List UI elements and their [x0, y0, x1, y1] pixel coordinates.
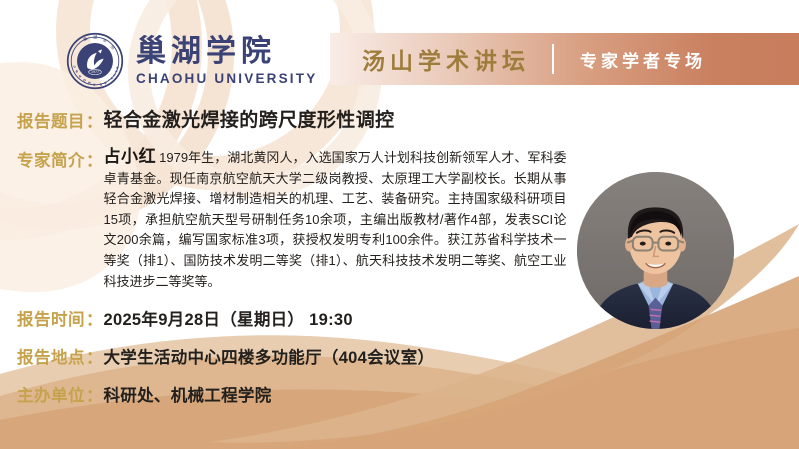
speaker-bio-colon: ：: [85, 147, 104, 171]
report-time-label: 报告时间: [17, 306, 85, 330]
report-title-value: 轻合金激光焊接的跨尺度形性调控: [104, 108, 395, 134]
report-place-value: 大学生活动中心四楼多功能厅（404会议室）: [104, 344, 435, 368]
svg-text:U: U: [99, 82, 103, 86]
poster-content: 报告题目 ： 轻合金激光焊接的跨尺度形性调控 专家简介 ： 占小红1979年生，…: [0, 104, 799, 406]
speaker-bio-row: 专家简介 ： 占小红1979年生，湖北黄冈人，入选国家万人计划科技创新领军人才、…: [0, 147, 799, 292]
banner-divider: [552, 44, 554, 74]
svg-text:湖: 湖: [93, 33, 97, 39]
lecture-poster: 1977 巢 湖 学 院 C H A O H U U: [0, 0, 799, 449]
host-organization-colon: ：: [85, 382, 104, 406]
speaker-name: 占小红: [104, 147, 157, 166]
svg-text:学: 学: [102, 37, 108, 44]
university-name: 巢湖学院 CHAOHU UNIVERSITY: [136, 37, 317, 86]
forum-banner-title: 汤山学术讲坛: [362, 42, 530, 76]
university-name-cn: 巢湖学院: [136, 37, 317, 67]
svg-text:C: C: [72, 64, 77, 68]
svg-text:H: H: [75, 69, 80, 74]
report-place-row: 报告地点 ： 大学生活动中心四楼多功能厅（404会议室）: [0, 344, 799, 368]
speaker-bio-label: 专家简介: [17, 147, 85, 171]
report-place-colon: ：: [85, 344, 104, 368]
university-brand: 1977 巢 湖 学 院 C H A O H U U: [66, 32, 317, 90]
host-organization-row: 主办单位 ： 科研处、机械工程学院: [0, 382, 799, 406]
host-organization-label: 主办单位: [17, 382, 85, 406]
university-seal-icon: 1977 巢 湖 学 院 C H A O H U U: [66, 32, 124, 90]
report-title-row: 报告题目 ： 轻合金激光焊接的跨尺度形性调控: [0, 108, 799, 134]
forum-banner-subtitle: 专家学者专场: [580, 47, 706, 72]
report-title-colon: ：: [85, 108, 104, 132]
report-title-label: 报告题目: [17, 108, 85, 132]
report-place-label: 报告地点: [17, 344, 85, 368]
report-time-row: 报告时间 ： 2025年9月28日（星期日） 19:30: [0, 306, 799, 330]
speaker-bio-body: 占小红1979年生，湖北黄冈人，入选国家万人计划科技创新领军人才、军科委卓青基金…: [104, 147, 567, 292]
speaker-bio-text: 1979年生，湖北黄冈人，入选国家万人计划科技创新领军人才、军科委卓青基金。现任…: [104, 150, 567, 289]
report-time-value: 2025年9月28日（星期日） 19:30: [104, 306, 353, 330]
report-time-colon: ：: [85, 306, 104, 330]
university-name-en: CHAOHU UNIVERSITY: [136, 72, 317, 86]
poster-header: 1977 巢 湖 学 院 C H A O H U U: [0, 0, 799, 104]
forum-banner: 汤山学术讲坛 专家学者专场: [330, 33, 799, 85]
svg-text:1977: 1977: [91, 70, 99, 74]
host-organization-value: 科研处、机械工程学院: [104, 382, 272, 406]
svg-text:S: S: [115, 66, 119, 69]
